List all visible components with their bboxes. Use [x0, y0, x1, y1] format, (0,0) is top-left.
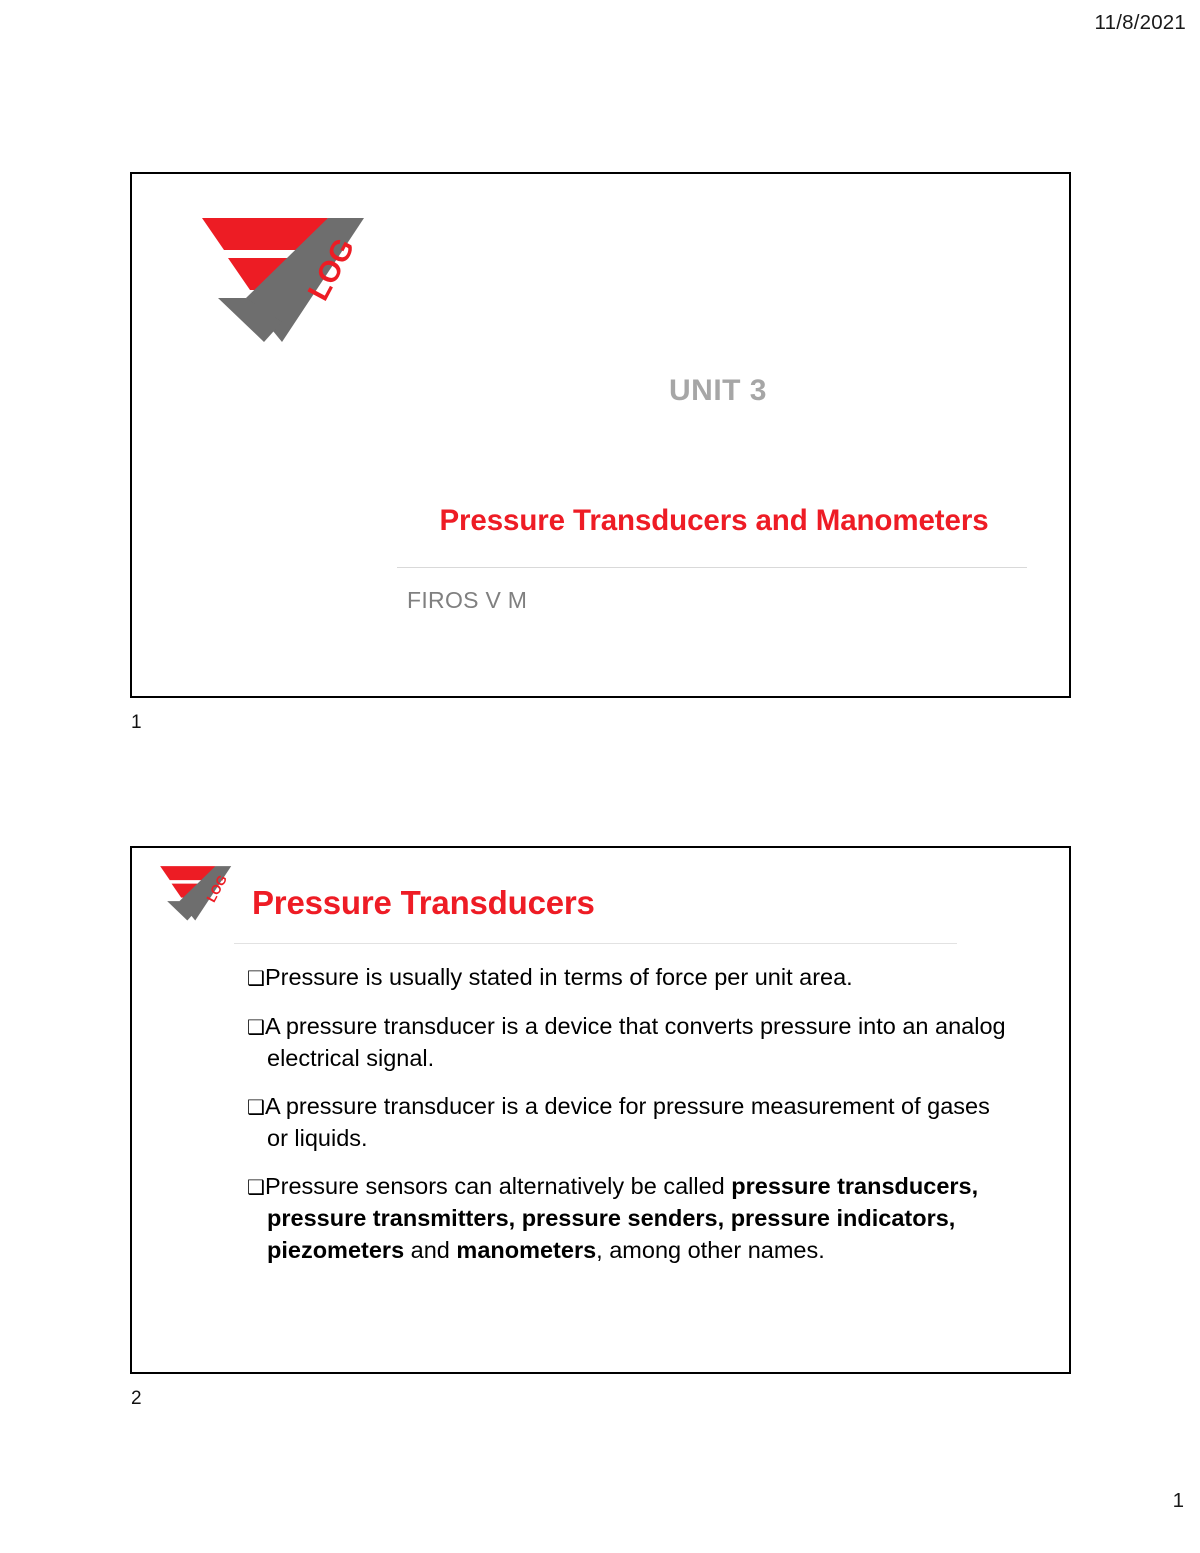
slide-2-number: 2	[131, 1388, 142, 1410]
bullet-glyph-icon: ❑	[247, 1175, 265, 1199]
vlog-logo-icon-small: LOG	[154, 858, 247, 922]
header-date: 11/8/2021	[1095, 11, 1186, 35]
bullet-item: ❑A pressure transducer is a device for p…	[247, 1091, 1007, 1155]
slide-2-bullet-list: ❑Pressure is usually stated in terms of …	[247, 962, 1007, 1282]
bullet-text: manometers	[456, 1237, 596, 1263]
bullet-glyph-icon: ❑	[247, 1095, 265, 1119]
bullet-glyph-icon: ❑	[247, 1015, 265, 1039]
bullet-text: A pressure transducer is a device that c…	[265, 1013, 1006, 1072]
bullet-text: Pressure sensors can alternatively be ca…	[265, 1173, 731, 1199]
page-footer-number: 1	[1173, 1489, 1184, 1513]
bullet-text: , among other names.	[596, 1237, 825, 1263]
slide-1-divider	[397, 567, 1027, 568]
bullet-text: Pressure is usually stated in terms of f…	[265, 964, 853, 990]
slide-1-unit-label: UNIT 3	[398, 374, 1038, 408]
slide-2-divider	[234, 943, 957, 944]
bullet-item: ❑Pressure is usually stated in terms of …	[247, 962, 1007, 995]
slide-1-title: Pressure Transducers and Manometers	[398, 504, 1030, 538]
slide-1-number: 1	[131, 712, 142, 734]
document-page: 11/8/2021 LOG UNIT 3 Pressure Transducer…	[0, 0, 1200, 1553]
bullet-text: A pressure transducer is a device for pr…	[265, 1093, 990, 1152]
slide-2: LOG Pressure Transducers ❑Pressure is us…	[130, 846, 1071, 1374]
slide-2-title: Pressure Transducers	[252, 884, 595, 922]
bullet-item: ❑A pressure transducer is a device that …	[247, 1011, 1007, 1075]
bullet-item: ❑Pressure sensors can alternatively be c…	[247, 1171, 1007, 1267]
vlog-logo-icon: LOG	[188, 200, 400, 345]
slide-1-author: FIROS V M	[407, 587, 527, 614]
slide-1: LOG UNIT 3 Pressure Transducers and Mano…	[130, 172, 1071, 698]
bullet-glyph-icon: ❑	[247, 966, 265, 990]
bullet-text: and	[404, 1237, 456, 1263]
